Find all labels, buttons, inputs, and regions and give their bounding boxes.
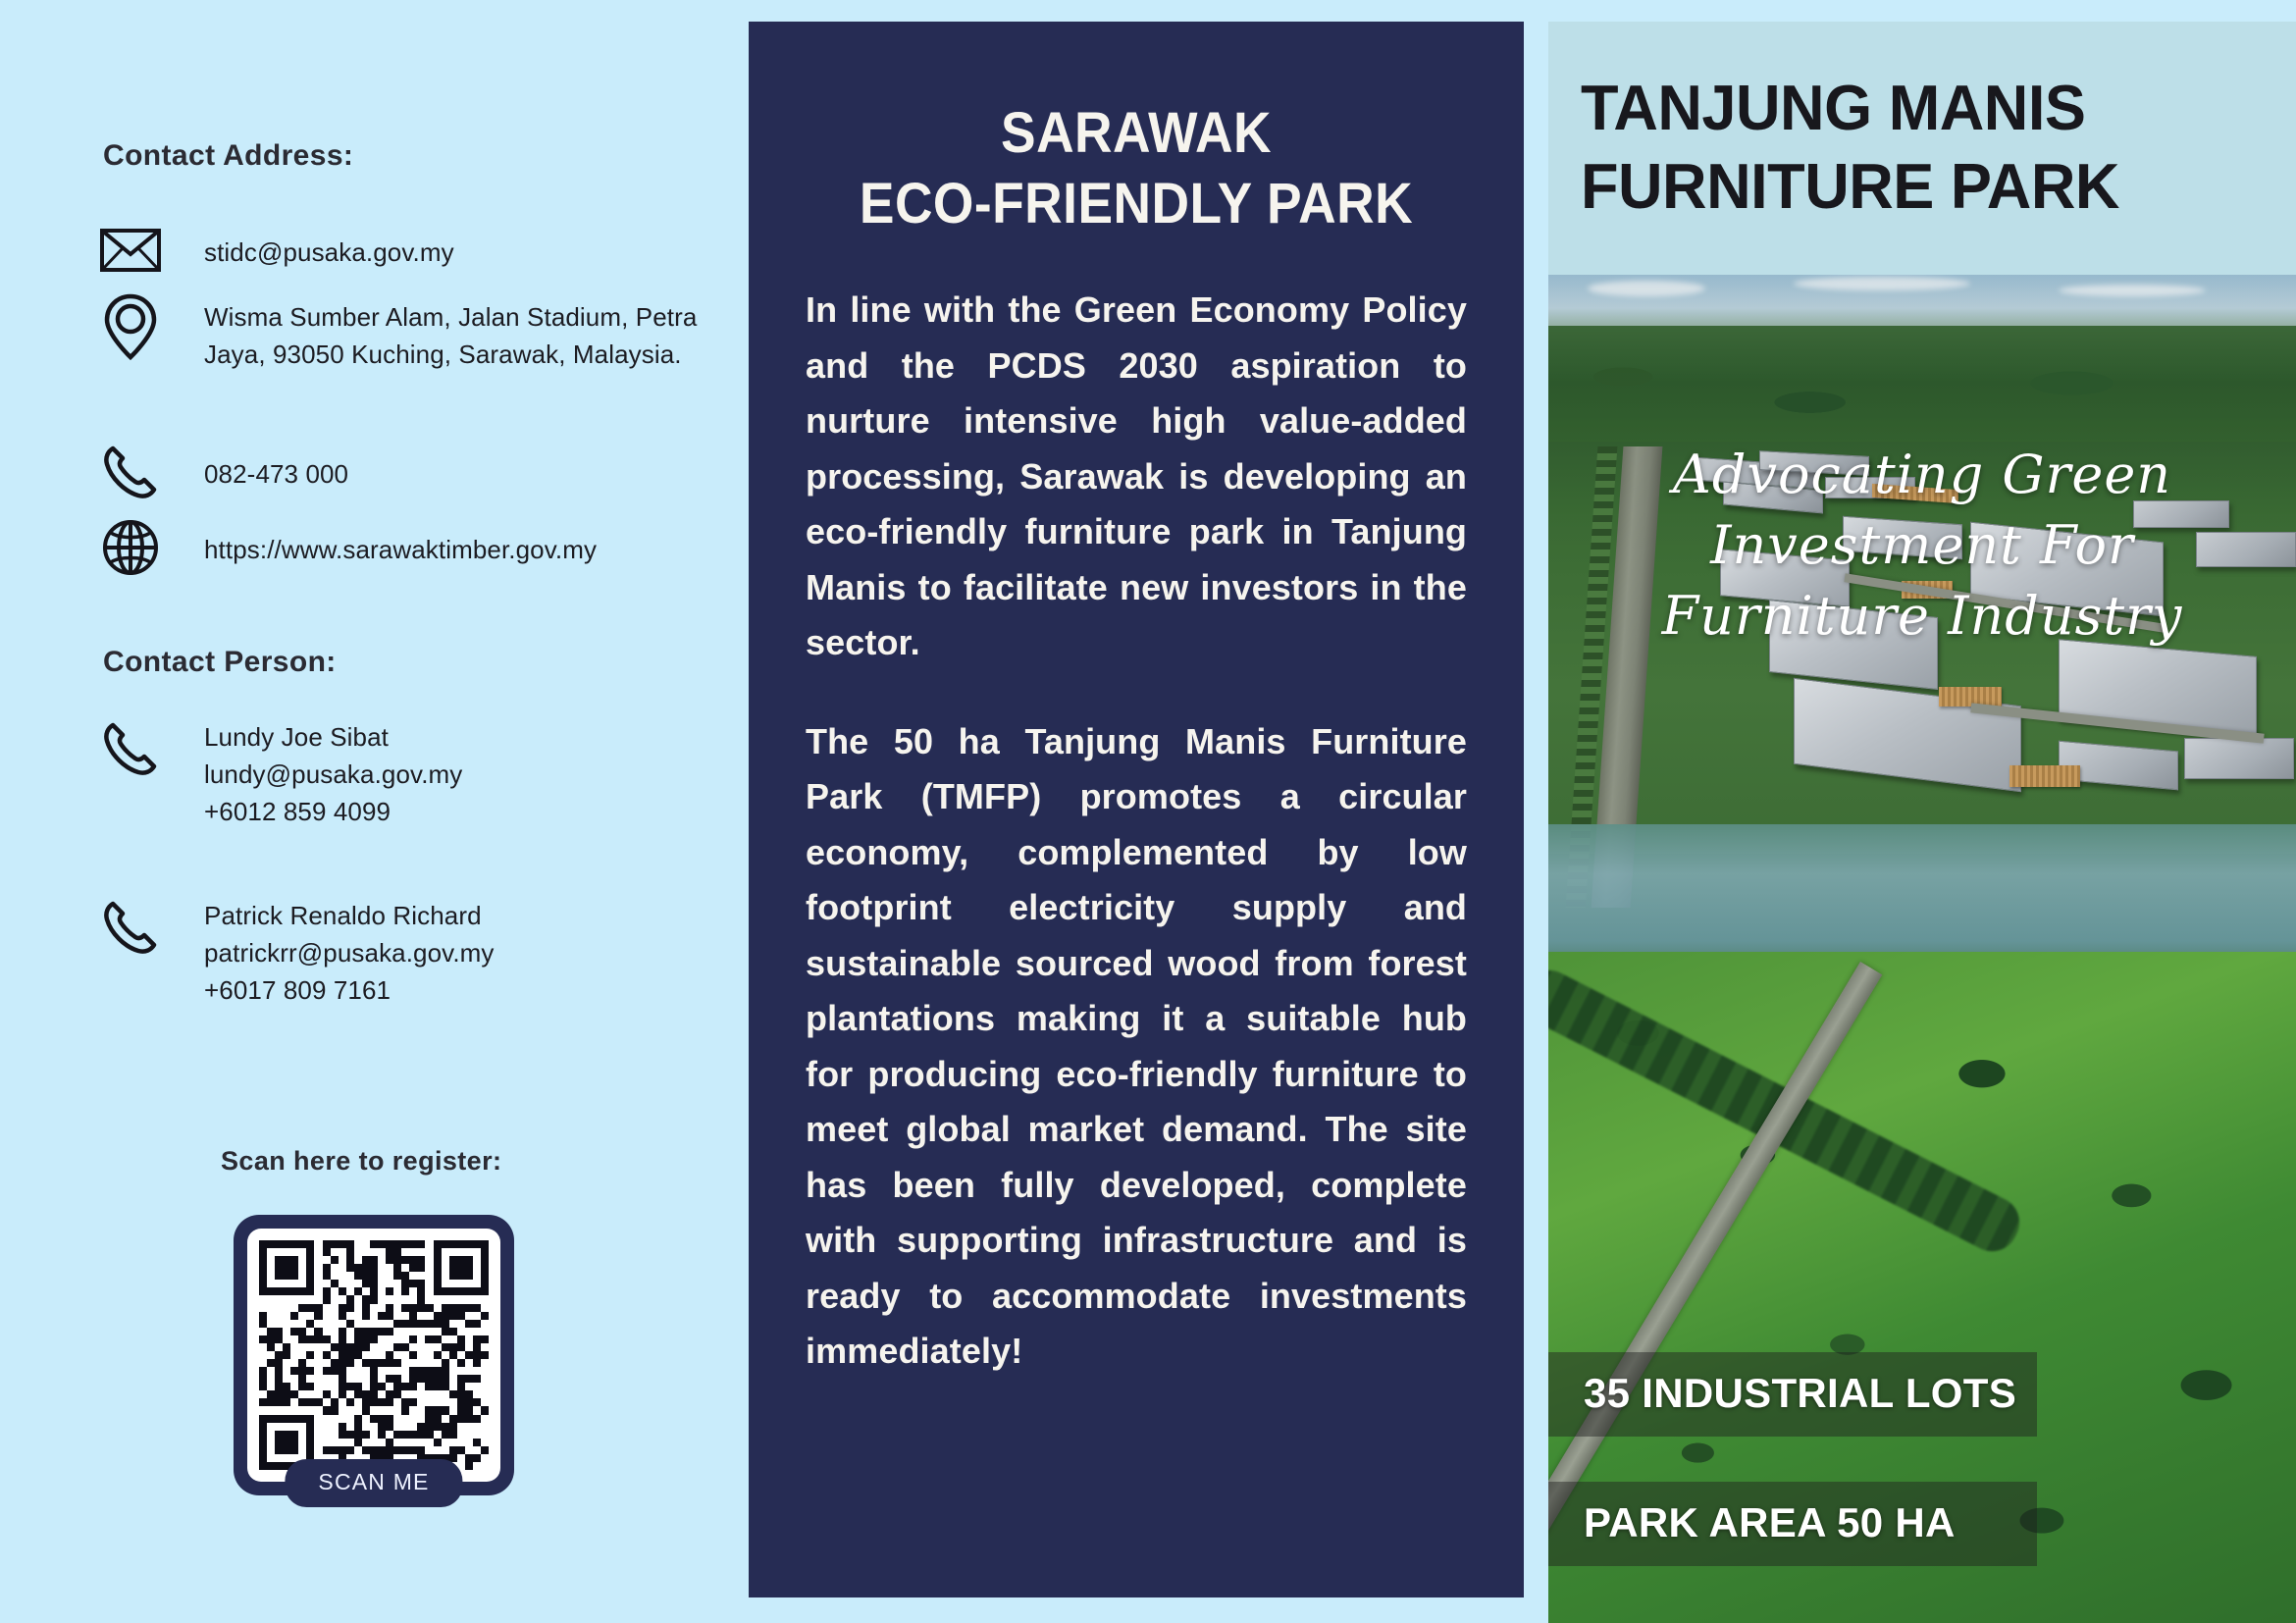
right-hero-panel: TANJUNG MANIS FURNITURE PARK — [1548, 22, 2296, 1623]
location-pin-icon — [98, 294, 163, 359]
brochure-page: Contact Address: stidc@pusaka.gov.my — [0, 0, 2296, 1623]
center-title-line-2: ECO-FRIENDLY PARK — [832, 169, 1440, 239]
contact-address-text: Wisma Sumber Alam, Jalan Stadium, Petra … — [204, 302, 697, 369]
center-panel-body: In line with the Green Economy Policy an… — [806, 283, 1467, 1380]
contact-person-2-email[interactable]: patrickrr@pusaka.gov.my — [204, 934, 495, 971]
contact-person-2-phone[interactable]: +6017 809 7161 — [204, 971, 495, 1009]
contact-person-1-name: Lundy Joe Sibat — [204, 718, 462, 756]
qr-code-card[interactable]: SCAN ME — [234, 1215, 514, 1495]
photo-script-caption: Advocating Green Investment For Furnitur… — [1548, 440, 2296, 652]
timber-stack — [1939, 687, 2002, 707]
qr-code-image — [259, 1240, 489, 1470]
cloud-shape — [2059, 285, 2206, 296]
right-title-line-2: FURNITURE PARK — [1581, 147, 2247, 226]
contact-person-1: Lundy Joe Sibat lundy@pusaka.gov.my +601… — [98, 716, 462, 830]
photo-distant-forest — [1548, 326, 2296, 453]
phone-icon — [98, 440, 163, 504]
contact-address-value: Wisma Sumber Alam, Jalan Stadium, Petra … — [204, 294, 749, 373]
contact-email-value[interactable]: stidc@pusaka.gov.my — [204, 218, 454, 271]
contact-person-heading: Contact Person: — [103, 646, 337, 679]
scan-me-badge: SCAN ME — [285, 1459, 462, 1507]
scan-here-heading: Scan here to register: — [221, 1146, 501, 1177]
envelope-icon — [98, 218, 163, 283]
contact-row-phone: 082-473 000 — [98, 440, 348, 504]
caption-line-2: Furniture Industry — [1574, 581, 2270, 652]
contact-row-website: https://www.sarawaktimber.gov.my — [98, 515, 597, 580]
globe-icon — [98, 515, 163, 580]
qr-code-inner: SCAN ME — [247, 1229, 500, 1482]
center-title-line-1: SARAWAK — [832, 98, 1440, 169]
right-panel-title: TANJUNG MANIS FURNITURE PARK — [1548, 69, 2273, 226]
contact-person-1-email[interactable]: lundy@pusaka.gov.my — [204, 756, 462, 793]
badge-industrial-lots: 35 INDUSTRIAL LOTS — [1548, 1352, 2037, 1437]
caption-line-1: Advocating Green Investment For — [1574, 440, 2270, 581]
phone-icon — [98, 895, 163, 960]
left-contact-panel: Contact Address: stidc@pusaka.gov.my — [0, 0, 749, 1623]
phone-icon — [98, 716, 163, 781]
center-description-panel: SARAWAK ECO-FRIENDLY PARK In line with t… — [749, 22, 1524, 1597]
center-panel-title: SARAWAK ECO-FRIENDLY PARK — [832, 98, 1440, 239]
cloud-shape — [1588, 281, 1705, 296]
contact-address-heading: Contact Address: — [103, 139, 353, 173]
right-title-line-1: TANJUNG MANIS — [1581, 69, 2247, 147]
contact-phone-value[interactable]: 082-473 000 — [204, 440, 348, 493]
center-paragraph-1: In line with the Green Economy Policy an… — [806, 283, 1467, 671]
contact-row-email: stidc@pusaka.gov.my — [98, 218, 454, 283]
contact-person-2-details: Patrick Renaldo Richard patrickrr@pusaka… — [204, 895, 495, 1009]
contact-person-2: Patrick Renaldo Richard patrickrr@pusaka… — [98, 895, 495, 1009]
cloud-shape — [1794, 277, 1970, 290]
contact-person-2-name: Patrick Renaldo Richard — [204, 897, 495, 934]
timber-stack — [2009, 765, 2080, 787]
contact-row-address: Wisma Sumber Alam, Jalan Stadium, Petra … — [98, 294, 749, 373]
aerial-photo-industrial-park: Advocating Green Investment For Furnitur… — [1548, 275, 2296, 1623]
warehouse-shape — [2184, 738, 2294, 779]
center-paragraph-2: The 50 ha Tanjung Manis Furniture Park (… — [806, 714, 1467, 1380]
badge-park-area: PARK AREA 50 HA — [1548, 1482, 2037, 1566]
contact-person-1-phone[interactable]: +6012 859 4099 — [204, 793, 462, 830]
contact-website-value[interactable]: https://www.sarawaktimber.gov.my — [204, 515, 597, 568]
contact-person-1-details: Lundy Joe Sibat lundy@pusaka.gov.my +601… — [204, 716, 462, 830]
